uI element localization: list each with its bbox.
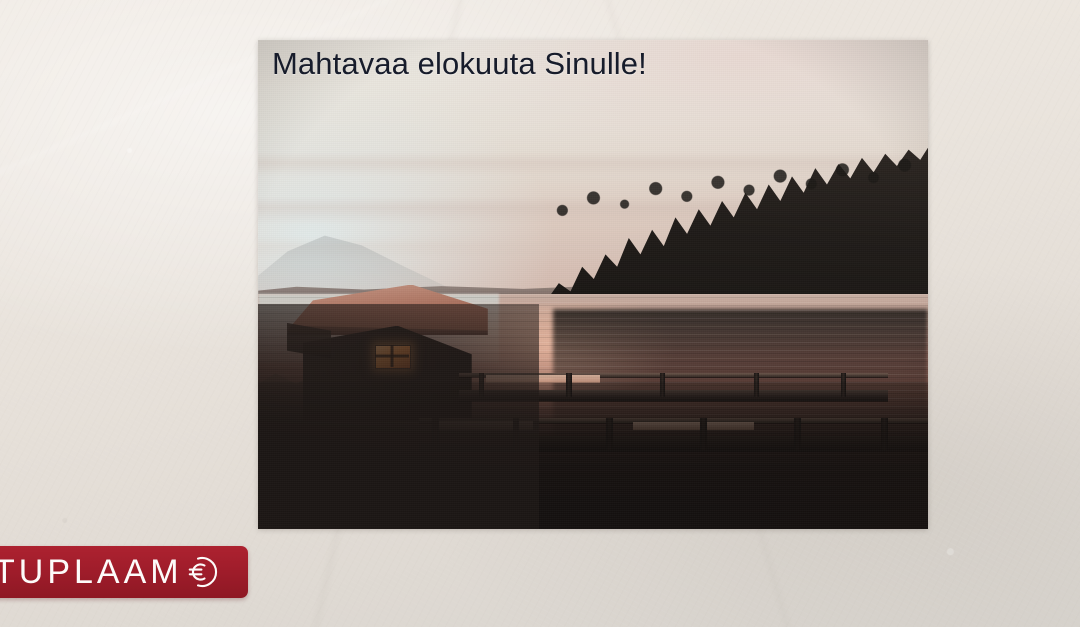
photo-dark-foreground-left [258,304,539,529]
euro-o-icon [184,554,220,590]
logo-text: TUPLAAM [0,555,183,589]
page-canvas: Mahtavaa elokuuta Sinulle! TUPLAAM [0,0,1080,627]
photo-caption-text: Mahtavaa elokuuta Sinulle! [272,46,647,83]
tuplaamo-logo-banner[interactable]: TUPLAAM [0,546,248,598]
photo-card: Mahtavaa elokuuta Sinulle! [258,40,928,529]
logo-wordmark: TUPLAAM [0,554,220,590]
photo-treeline-fringe [539,148,928,226]
